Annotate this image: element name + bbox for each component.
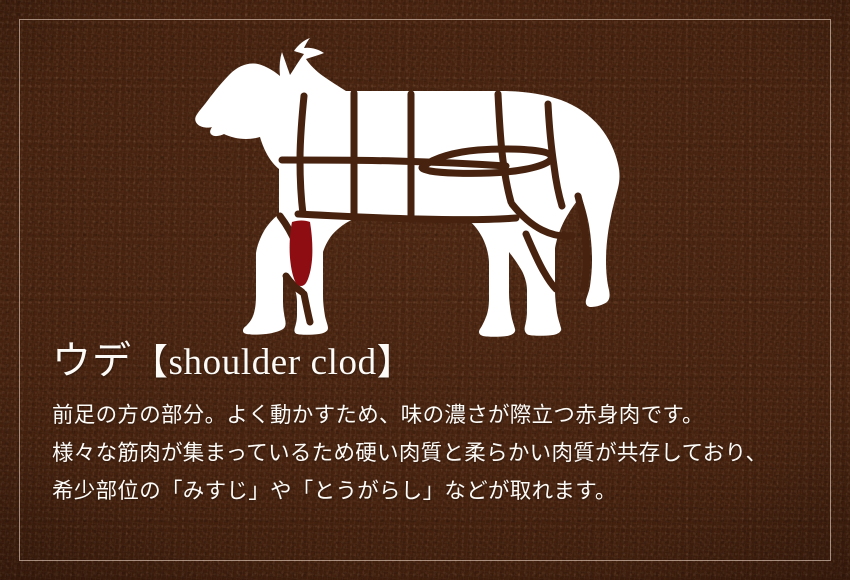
- cow-cut-diagram: [186, 38, 656, 343]
- cut-name-en: shoulder clod: [169, 342, 377, 383]
- description-line-1: 前足の方の部分。よく動かすため、味の濃さが際立つ赤身肉です。: [52, 396, 812, 434]
- bracket-close: 】: [377, 342, 414, 382]
- cut-name-jp: ウデ: [52, 340, 132, 383]
- bracket-open: 【: [132, 342, 169, 382]
- beef-cut-infographic-card: ウデ【shoulder clod】 前足の方の部分。よく動かすため、味の濃さが際…: [0, 0, 850, 580]
- description-line-3: 希少部位の「みすじ」や「とうがらし」などが取れます。: [52, 472, 812, 510]
- description-line-2: 様々な筋肉が集まっているため硬い肉質と柔らかい肉質が共存しており、: [52, 434, 812, 472]
- cut-description-block: ウデ【shoulder clod】 前足の方の部分。よく動かすため、味の濃さが際…: [52, 338, 812, 510]
- page-title: ウデ【shoulder clod】: [52, 338, 812, 387]
- cut-line-tail: [578, 196, 586, 288]
- cut-line-neck: [300, 96, 304, 214]
